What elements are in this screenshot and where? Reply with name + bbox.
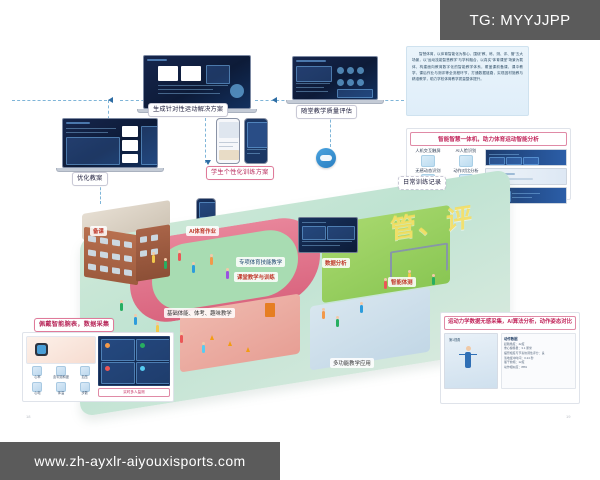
- metric-item: 步数: [73, 382, 96, 396]
- scene-label-multi-function: 多功能教学应用: [330, 358, 374, 368]
- training-cone: [228, 341, 232, 346]
- metric-item: 血氧饱和度: [50, 366, 73, 380]
- wearable-data-panel: 心率 血氧饱和度 血压 心电 体温: [22, 332, 174, 402]
- page-number-left: 18: [26, 414, 30, 419]
- photo-caption: 第1视角: [449, 337, 460, 342]
- metric-label: 血氧饱和度: [50, 376, 73, 380]
- mechanics-data-list: 动作数据 起跳角度：42度 重心偏移量：3.1 厘米 摆臂幅度与节奏协调性评分：…: [501, 333, 576, 389]
- scene-label-class-training: 课堂教学与训练: [234, 272, 278, 282]
- athlete-photo: 第1视角: [444, 333, 498, 389]
- infographic-page: 优化教案 生成针对性运动解决方案: [0, 0, 600, 480]
- student-figure: [164, 261, 167, 269]
- watch-metrics-column: 心率 血氧饱和度 血压 心电 体温: [26, 336, 96, 396]
- student-figure: [152, 255, 155, 263]
- url-watermark: www.zh-ayxlr-aiyouxisports.com: [0, 442, 280, 480]
- callout-quality-eval: 随堂教学质量评估: [296, 105, 357, 119]
- watch-dashboard-column: 实时多人监测: [98, 336, 170, 397]
- feature-label: AI人脸识别: [448, 149, 484, 154]
- laptop-mockup-quality-eval: [292, 56, 378, 104]
- school-building: [78, 207, 174, 285]
- connector-line: [12, 100, 107, 101]
- student-figure: [178, 253, 181, 261]
- student-figure: [210, 257, 213, 265]
- data-row: 动作相似度：88%: [504, 365, 573, 370]
- metric-label: 血压: [73, 376, 96, 380]
- scene-label-lesson-prep: 备课: [90, 226, 107, 236]
- feature-label: 无感动态识别: [410, 169, 446, 174]
- metric-item: 心电: [26, 382, 49, 396]
- metric-label: 心率: [26, 376, 49, 380]
- student-figure: [180, 335, 183, 343]
- metric-row: 心电 体温 步数: [26, 382, 96, 396]
- description-text: 智慧体育，以体育智能化为核心，围绕"教、练、测、评、管"五大场景，以"运动技能智…: [412, 51, 523, 82]
- student-figure: [432, 277, 435, 285]
- feature-label: 动作对比分析: [448, 169, 484, 174]
- student-figure: [226, 271, 229, 279]
- tg-watermark-badge: TG: MYYJJPP: [440, 0, 600, 40]
- scene-label-skill-teaching: 专项体育技能教学: [236, 257, 285, 267]
- metric-label: 步数: [73, 392, 96, 396]
- outdoor-display-screen: [298, 217, 358, 253]
- student-figure: [384, 281, 387, 289]
- feature-label: 人机交互触屏: [410, 149, 446, 154]
- feature-panel-title: 智能智慧一体机，助力体育运动智能分析: [410, 132, 567, 146]
- scene-label-daily-record: 日常训练记录: [398, 176, 446, 190]
- watch-panel-title: 佩戴智能腕表，数据采集: [34, 318, 114, 332]
- student-figure: [322, 311, 325, 319]
- student-figure: [360, 305, 363, 313]
- scene-label-smart-testing: 智能体测: [388, 277, 416, 287]
- face-recognition-icon: [459, 155, 473, 167]
- feature-item: AI人脸识别: [448, 149, 484, 167]
- feature-screenshot: [485, 149, 567, 166]
- data-header: 动作数据: [504, 336, 573, 341]
- metric-row: 心率 血氧饱和度 血压: [26, 366, 96, 380]
- metric-item: 血压: [73, 366, 96, 380]
- metric-item: 心率: [26, 366, 49, 380]
- smartwatch-photo: [26, 336, 96, 364]
- mechanics-panel-title: 运动力学数据无感采集，AI算法分析，动作姿态对比: [444, 316, 576, 330]
- phone-mockup-student-left: [216, 118, 240, 164]
- description-paragraph-panel: 智慧体育，以体育智能化为核心，围绕"教、练、测、评、管"五大场景，以"运动技能智…: [406, 46, 529, 116]
- scene-label-basic-fitness: 基础体能、体考、趣味教学: [164, 308, 235, 318]
- student-figure: [120, 303, 123, 311]
- arrow-down-icon: [205, 160, 211, 165]
- callout-student-plan: 学生个性化训练方案: [206, 166, 274, 180]
- metric-item: 体温: [50, 382, 73, 396]
- callout-optimize-plan: 优化教案: [72, 172, 108, 186]
- cloud-upload-icon: [316, 148, 336, 168]
- connector-line: [205, 118, 206, 163]
- student-figure: [134, 317, 137, 325]
- student-figure: [192, 265, 195, 273]
- metric-label: 体温: [50, 392, 73, 396]
- phone-mockup-student-right: [244, 118, 268, 164]
- arrow-left-icon: [272, 97, 277, 103]
- training-cone: [246, 347, 250, 352]
- monitoring-dashboard: [98, 336, 170, 386]
- scene-label-ai-homework: AI体育作业: [186, 226, 219, 236]
- arrow-left-icon: [108, 97, 113, 103]
- touchscreen-icon: [421, 155, 435, 167]
- laptop-mockup-optimize-plan: [62, 118, 158, 172]
- feature-item: 人机交互触屏: [410, 149, 446, 167]
- callout-generate-plan: 生成针对性运动解决方案: [148, 103, 228, 117]
- metric-label: 心电: [26, 392, 49, 396]
- mechanics-body: 第1视角 动作数据 起跳角度：42度 重心偏移量：3.1 厘米 摆臂幅度与节奏协…: [444, 333, 576, 389]
- training-cone: [210, 335, 214, 340]
- student-figure: [336, 319, 339, 327]
- student-figure: [202, 345, 205, 353]
- basketball-hoop: [265, 303, 275, 317]
- page-number-right: 19: [566, 414, 570, 419]
- scene-label-data-analysis: 数据分析: [322, 258, 350, 268]
- motion-mechanics-panel: 运动力学数据无感采集，AI算法分析，动作姿态对比 第1视角 动作数据 起跳角度：…: [440, 312, 580, 404]
- dashboard-caption: 实时多人监测: [98, 388, 170, 397]
